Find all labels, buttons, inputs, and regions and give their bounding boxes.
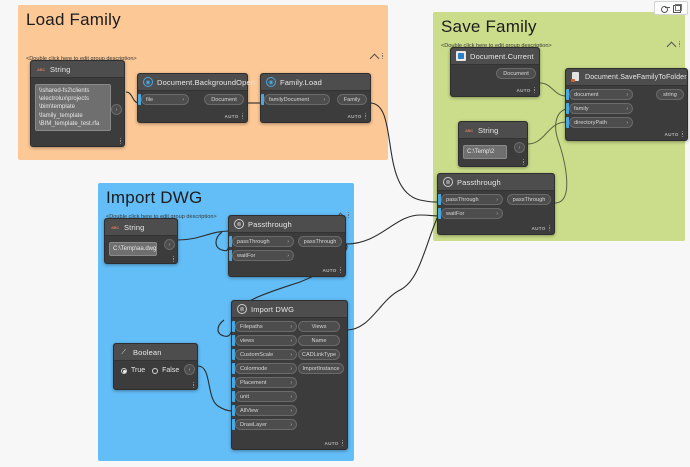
output-port-string[interactable]: string xyxy=(656,89,684,100)
save-doc-icon xyxy=(571,72,581,82)
chevron-up-icon[interactable] xyxy=(668,40,676,48)
port-label: Filepaths xyxy=(240,324,263,330)
input-port-customscale[interactable]: CustomScale› xyxy=(232,349,297,360)
output-ports: Views Name CADLinkType ImportInstance xyxy=(298,321,344,377)
abc-icon: ABC xyxy=(464,125,474,135)
input-port-filepaths[interactable]: Filepaths› xyxy=(232,321,297,332)
node-header[interactable]: Document.SaveFamilyToFolder xyxy=(566,69,687,86)
output-port-views[interactable]: Views xyxy=(298,321,340,332)
node-header[interactable]: ⁄ Boolean xyxy=(114,344,197,361)
group-title: Load Family xyxy=(18,5,388,30)
input-port-unit[interactable]: unit› xyxy=(232,391,297,402)
node-options-icon[interactable] xyxy=(242,113,243,119)
node-title: Family.Load xyxy=(280,78,322,87)
port-label: CustomScale xyxy=(240,352,273,358)
group-controls[interactable] xyxy=(371,52,384,60)
port-label: family xyxy=(574,106,589,112)
node-header[interactable]: ⊚ Import DWG xyxy=(232,301,347,318)
passthrough-icon: ⊚ xyxy=(234,219,244,229)
node-title: Document.Current xyxy=(470,52,534,61)
input-port-placement[interactable]: Placement› xyxy=(232,377,297,388)
node-passthrough-save[interactable]: ⊚ Passthrough passThrough › waitFor › xyxy=(437,173,555,235)
input-port-waitfor[interactable]: waitFor › xyxy=(438,208,503,219)
node-title: Passthrough xyxy=(457,178,501,187)
abc-icon: ABC xyxy=(110,222,120,232)
radio-label-true: True xyxy=(131,367,145,374)
node-title: Boolean xyxy=(133,348,162,357)
radio-true[interactable] xyxy=(121,368,127,374)
port-label: Name xyxy=(312,338,327,344)
node-header[interactable]: ⊚ Passthrough xyxy=(229,216,345,233)
port-label: Views xyxy=(312,324,327,330)
output-port[interactable]: › xyxy=(111,104,122,115)
auto-label: AUTO xyxy=(324,441,338,446)
input-port-allview[interactable]: AllView› xyxy=(232,405,297,416)
node-document-savefamilytofolder[interactable]: Document.SaveFamilyToFolder document › f… xyxy=(565,68,688,141)
kebab-menu-icon[interactable] xyxy=(348,212,350,219)
port-label: ImportInstance xyxy=(303,366,340,372)
input-port-document[interactable]: document › xyxy=(566,89,633,100)
node-title: String xyxy=(124,223,145,232)
chevron-up-icon[interactable] xyxy=(371,52,379,60)
port-label: Placement xyxy=(240,380,266,386)
output-port-passthrough[interactable]: passThrough xyxy=(298,236,342,247)
output-port[interactable]: › xyxy=(164,239,175,250)
port-label: passThrough xyxy=(237,239,270,245)
radio-label-false: False xyxy=(162,367,179,374)
port-connection-tick xyxy=(138,94,141,105)
input-port-familydocument[interactable]: familyDocument › xyxy=(261,94,330,105)
auto-label: AUTO xyxy=(347,114,361,119)
view-toolbar[interactable] xyxy=(654,1,688,15)
group-title: Import DWG xyxy=(98,183,354,208)
port-connection-tick xyxy=(229,236,232,247)
cube-icon[interactable] xyxy=(672,4,681,12)
input-port-directorypath[interactable]: directoryPath › xyxy=(566,117,633,128)
node-header[interactable]: ⊚ Passthrough xyxy=(438,174,554,191)
port-label: Document xyxy=(503,71,529,77)
group-controls[interactable] xyxy=(668,40,681,48)
node-document-current[interactable]: Document.Current Document AUTO xyxy=(450,47,540,97)
node-boolean[interactable]: ⁄ Boolean True False › xyxy=(113,343,198,390)
node-title: Document.SaveFamilyToFolder xyxy=(585,74,687,81)
port-label: directoryPath xyxy=(574,120,607,126)
auto-label: AUTO xyxy=(322,268,336,273)
port-label: Document xyxy=(211,97,237,103)
port-connection-tick xyxy=(566,117,569,128)
port-label: document xyxy=(574,92,599,98)
fraction-icon: ⁄ xyxy=(119,347,129,357)
node-title: Passthrough xyxy=(248,220,292,229)
node-options-icon[interactable] xyxy=(549,225,550,231)
port-connection-tick xyxy=(566,89,569,100)
node-header[interactable]: ◉ Family.Load xyxy=(261,74,370,91)
port-label: passThrough xyxy=(446,197,479,203)
port-label: CADLinkType xyxy=(302,352,336,358)
dynamo-canvas[interactable]: Load Family <Double click here to edit g… xyxy=(0,0,690,467)
port-connection-tick xyxy=(438,208,441,219)
node-title: Document.BackgroundOpen xyxy=(157,78,255,87)
document-icon xyxy=(456,51,466,61)
input-ports: Filepaths› views› CustomScale› xyxy=(232,321,297,433)
output-port-cadlinktype[interactable]: CADLinkType xyxy=(298,349,340,360)
string-value-field[interactable]: \\shared-fs2\clients \electrolux\project… xyxy=(35,84,111,131)
node-header[interactable]: ABC String xyxy=(459,122,527,139)
radio-false[interactable] xyxy=(152,368,158,374)
port-label: string xyxy=(663,92,677,98)
input-port-passthrough[interactable]: passThrough › xyxy=(229,236,294,247)
node-string-template[interactable]: ABC String \\shared-fs2\clients \electro… xyxy=(30,60,125,147)
port-label: waitFor xyxy=(237,253,255,259)
passthrough-icon: ⊚ xyxy=(443,177,453,187)
node-passthrough-dwg[interactable]: ⊚ Passthrough passThrough › waitFor › xyxy=(228,215,346,277)
output-port-family[interactable]: Family xyxy=(337,94,367,105)
auto-label: AUTO xyxy=(664,132,678,137)
input-port-views[interactable]: views› xyxy=(232,335,297,346)
output-port-importinstance[interactable]: ImportInstance xyxy=(298,363,344,374)
node-options-icon[interactable] xyxy=(682,131,683,137)
auto-label: AUTO xyxy=(224,114,238,119)
port-label: Family xyxy=(344,97,360,103)
node-options-icon[interactable] xyxy=(340,267,341,273)
input-port-colormode[interactable]: Colormode› xyxy=(232,363,297,374)
input-port-waitfor[interactable]: waitFor › xyxy=(229,250,294,261)
port-label: AllView xyxy=(240,408,258,414)
node-import-dwg[interactable]: ⊚ Import DWG Filepaths› views› xyxy=(231,300,348,450)
pen-icon[interactable] xyxy=(661,4,670,12)
input-port-file[interactable]: file › xyxy=(138,94,189,105)
node-header[interactable]: Document.Current xyxy=(451,48,539,65)
node-header[interactable]: ABC String xyxy=(31,61,124,78)
node-options-icon[interactable] xyxy=(193,382,194,388)
node-string-temp2[interactable]: ABC String C:\Temp\2 › xyxy=(458,121,528,167)
group-title: Save Family xyxy=(433,12,685,37)
auto-label: AUTO xyxy=(516,88,530,93)
output-port[interactable]: › xyxy=(184,364,195,375)
node-options-icon[interactable] xyxy=(342,440,343,446)
port-label: familyDocument xyxy=(269,97,309,103)
node-family-load[interactable]: ◉ Family.Load familyDocument › Family xyxy=(260,73,371,123)
output-port-name[interactable]: Name xyxy=(298,335,340,346)
abc-icon: ABC xyxy=(36,64,46,74)
revit-doc-icon: ◉ xyxy=(143,77,153,87)
output-port-document[interactable]: Document xyxy=(496,68,536,79)
port-connection-tick xyxy=(438,194,441,205)
node-options-icon[interactable] xyxy=(120,138,121,144)
port-label: DrawLayer xyxy=(240,422,267,428)
port-label: views xyxy=(240,338,254,344)
node-options-icon[interactable] xyxy=(365,113,366,119)
port-connection-tick xyxy=(261,94,264,105)
node-options-icon[interactable] xyxy=(534,87,535,93)
node-title: String xyxy=(478,126,499,135)
node-document-backgroundopen[interactable]: ◉ Document.BackgroundOpen file › Documen… xyxy=(137,73,248,123)
revit-doc-icon: ◉ xyxy=(266,77,276,87)
port-connection-tick xyxy=(229,250,232,261)
string-value-field[interactable]: C:\Temp\2 xyxy=(463,145,507,159)
kebab-menu-icon[interactable] xyxy=(679,41,681,48)
output-port-document[interactable]: Document xyxy=(204,94,244,105)
node-header[interactable]: ◉ Document.BackgroundOpen xyxy=(138,74,247,91)
node-options-icon[interactable] xyxy=(523,159,524,165)
node-options-icon[interactable] xyxy=(173,256,174,262)
port-label: passThrough xyxy=(513,197,546,203)
node-header[interactable]: ABC String xyxy=(105,219,177,236)
output-port-passthrough[interactable]: passThrough xyxy=(507,194,551,205)
kebab-menu-icon[interactable] xyxy=(382,53,384,60)
port-connection-tick xyxy=(566,103,569,114)
port-label: Colormode xyxy=(240,366,267,372)
port-label: passThrough xyxy=(304,239,337,245)
input-port-family[interactable]: family › xyxy=(566,103,633,114)
port-label: unit xyxy=(240,394,249,400)
string-value-field[interactable]: C:\Temp\aa.dwg xyxy=(109,242,157,256)
node-title: String xyxy=(50,65,71,74)
passthrough-icon: ⊚ xyxy=(237,304,247,314)
port-label: file xyxy=(146,97,153,103)
port-label: waitFor xyxy=(446,211,464,217)
output-port[interactable]: › xyxy=(514,142,525,153)
node-title: Import DWG xyxy=(251,305,294,314)
auto-label: AUTO xyxy=(531,226,545,231)
node-string-dwg[interactable]: ABC String C:\Temp\aa.dwg › xyxy=(104,218,178,264)
input-port-drawlayer[interactable]: DrawLayer› xyxy=(232,419,297,430)
input-port-passthrough[interactable]: passThrough › xyxy=(438,194,503,205)
